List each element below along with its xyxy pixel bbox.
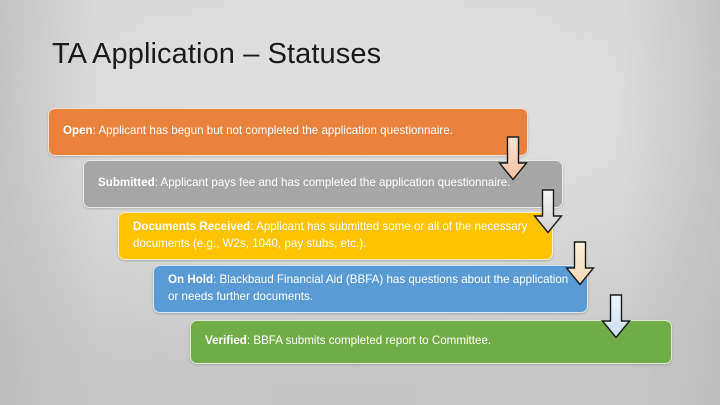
status-label-open: Open [63, 124, 93, 137]
down-arrow-icon-documents-to-on-hold [565, 241, 595, 286]
down-arrow-icon-open-to-submitted [498, 136, 528, 181]
status-description-submitted: Applicant pays fee and has completed the… [161, 176, 511, 189]
status-text-submitted: Submitted: Applicant pays fee and has co… [98, 175, 510, 192]
status-text-documents-received: Documents Received: Applicant has submit… [133, 219, 538, 253]
page-title: TA Application – Statuses [52, 38, 381, 71]
status-label-submitted: Submitted [98, 176, 155, 189]
status-bar-submitted[interactable]: Submitted: Applicant pays fee and has co… [83, 160, 563, 208]
status-bar-documents-received[interactable]: Documents Received: Applicant has submit… [118, 212, 553, 260]
status-description-on-hold: Blackbaud Financial Aid (BBFA) has quest… [168, 273, 568, 303]
status-label-verified: Verified [205, 334, 247, 347]
down-arrow-icon-submitted-to-documents [533, 189, 563, 234]
slide-canvas: TA Application – Statuses Open: Applican… [0, 0, 720, 405]
status-label-on-hold: On Hold [168, 273, 213, 286]
status-bar-verified[interactable]: Verified: BBFA submits completed report … [190, 320, 672, 364]
down-arrow-icon-on-hold-to-verified [601, 294, 631, 339]
status-description-open: Applicant has begun but not completed th… [98, 124, 453, 137]
status-label-documents-received: Documents Received [133, 220, 250, 233]
status-bar-open[interactable]: Open: Applicant has begun but not comple… [48, 108, 528, 156]
status-bar-on-hold[interactable]: On Hold: Blackbaud Financial Aid (BBFA) … [153, 265, 588, 313]
status-text-verified: Verified: BBFA submits completed report … [205, 333, 491, 350]
status-text-on-hold: On Hold: Blackbaud Financial Aid (BBFA) … [168, 272, 573, 306]
status-description-verified: BBFA submits completed report to Committ… [253, 334, 491, 347]
status-text-open: Open: Applicant has begun but not comple… [63, 123, 453, 140]
